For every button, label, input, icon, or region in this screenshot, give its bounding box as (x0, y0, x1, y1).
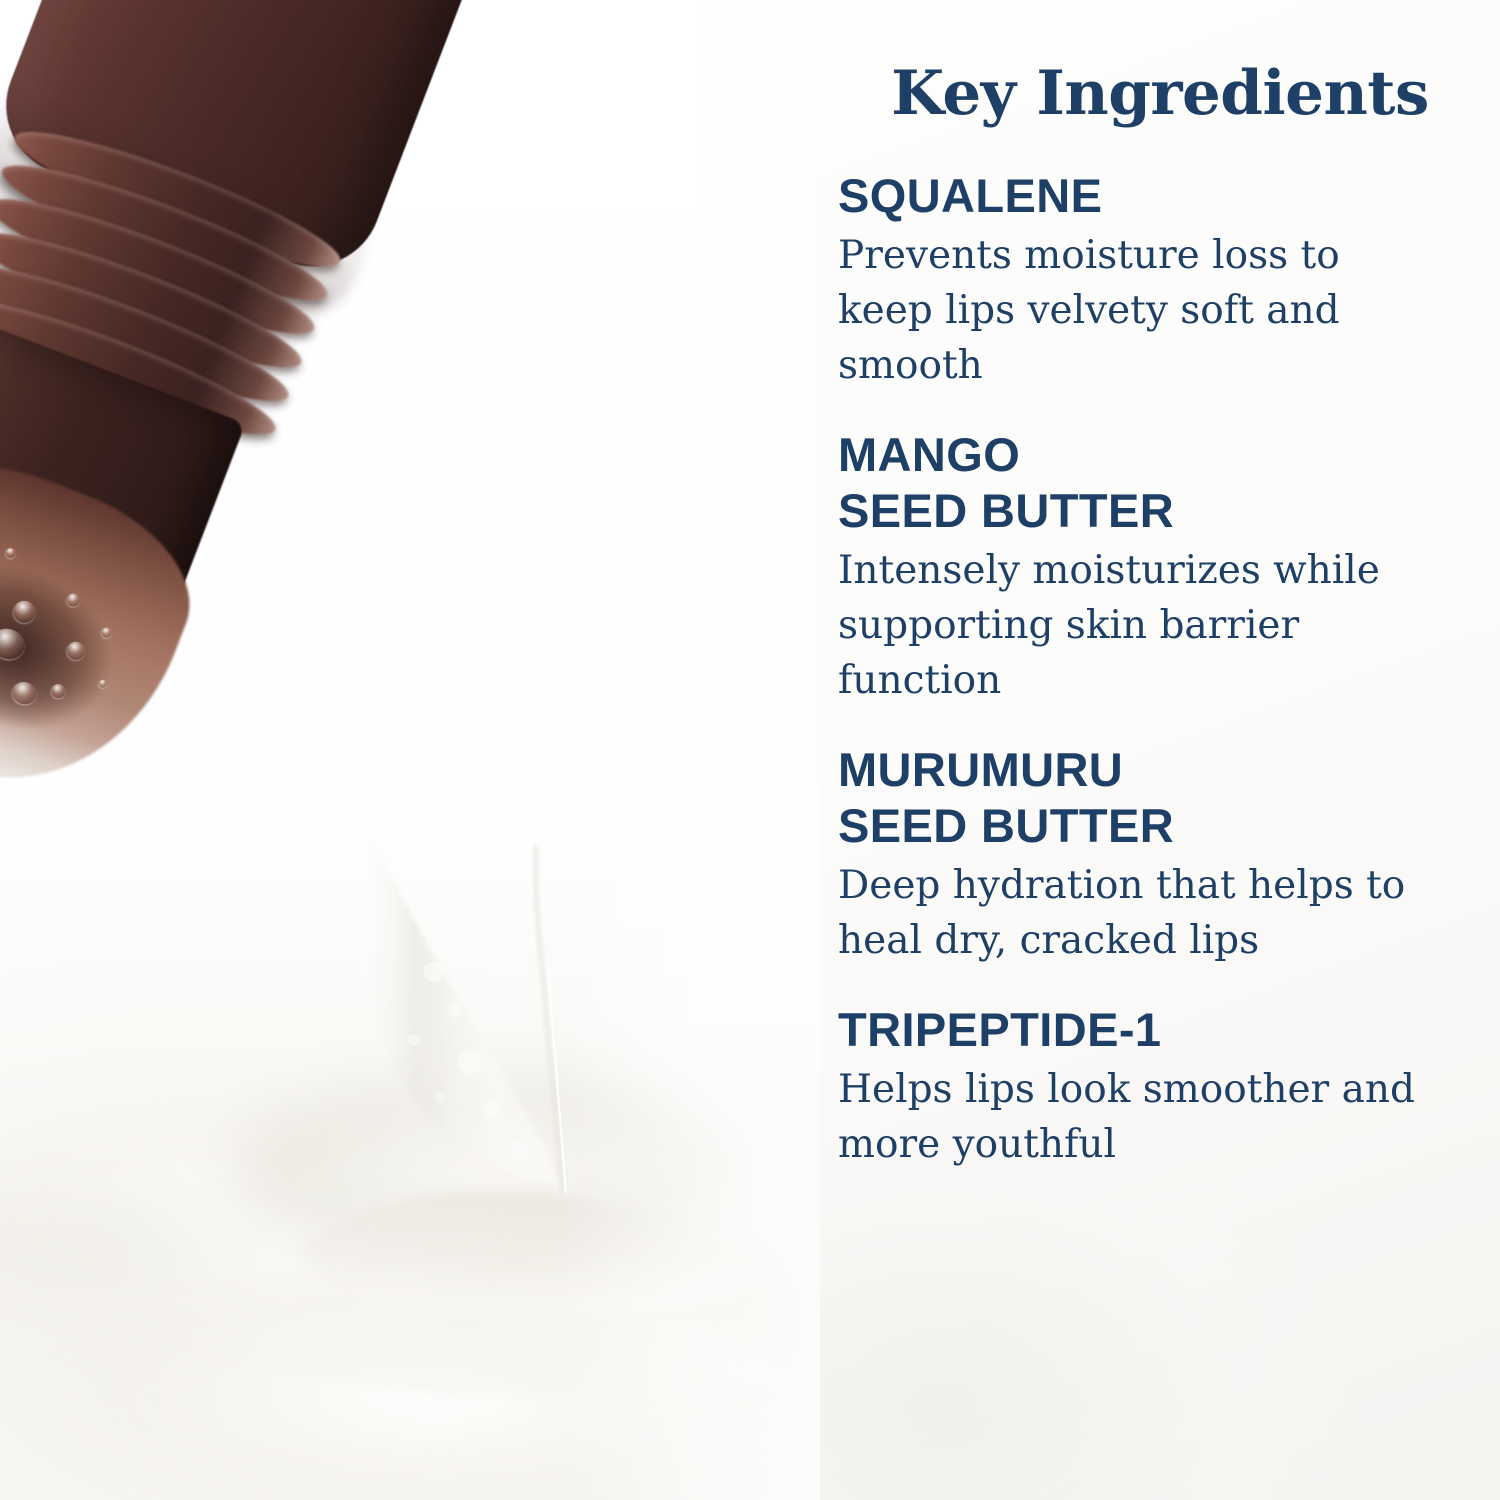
ingredient-item-tripeptide-1: TRIPEPTIDE-1 Helps lips look smoother an… (838, 1002, 1488, 1172)
product-ingredients-graphic: Key Ingredients SQUALENE Prevents moistu… (0, 0, 1500, 1500)
page-title: Key Ingredients (830, 58, 1490, 129)
ingredient-item-mango-seed-butter: MANGO SEED BUTTER Intensely moisturizes … (838, 427, 1488, 708)
ingredient-name: TRIPEPTIDE-1 (838, 1002, 1488, 1058)
product-photo (0, 0, 820, 1500)
ingredient-name: SQUALENE (838, 168, 1488, 224)
ingredient-list: SQUALENE Prevents moisture loss to keep … (838, 168, 1488, 1206)
ingredient-description: Intensely moisturizes while supporting s… (838, 543, 1438, 708)
ingredient-description: Helps lips look smoother and more youthf… (838, 1062, 1438, 1172)
ingredient-item-murumuru-seed-butter: MURUMURU SEED BUTTER Deep hydration that… (838, 742, 1488, 968)
photo-edge-fade (560, 0, 820, 1500)
ingredient-name: MURUMURU SEED BUTTER (838, 742, 1488, 854)
ingredient-item-squalene: SQUALENE Prevents moisture loss to keep … (838, 168, 1488, 393)
ingredient-name: MANGO SEED BUTTER (838, 427, 1488, 539)
ingredient-description: Deep hydration that helps to heal dry, c… (838, 858, 1438, 968)
ingredients-panel: Key Ingredients SQUALENE Prevents moistu… (820, 0, 1500, 1500)
ingredient-description: Prevents moisture loss to keep lips velv… (838, 228, 1438, 393)
